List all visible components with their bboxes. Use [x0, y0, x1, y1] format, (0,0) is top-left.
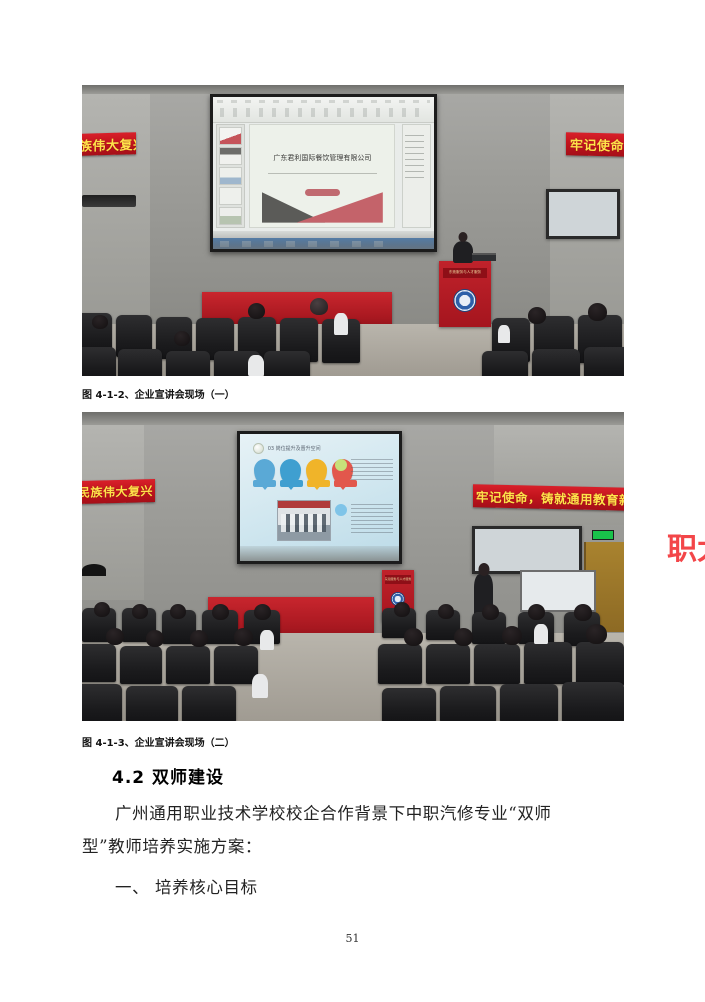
section-heading: 4.2 双师建设: [112, 763, 224, 788]
info-text-block: [351, 459, 392, 479]
photo-lecture-hall-2: 民族伟大复兴 牢记使命，铸就通用教育新的辉 03 岗位提升及晋升空间: [82, 412, 624, 721]
slide-logo-icon: [253, 443, 264, 454]
audience-head: [502, 626, 522, 645]
wall-panel-left: [82, 94, 150, 324]
slide-thumbnail: [219, 127, 242, 145]
list-item-1: 一、 培养核心目标: [82, 874, 624, 898]
audience-seat: [482, 351, 528, 376]
powerpoint-ribbon: [213, 97, 434, 123]
screen-vignette: [240, 546, 399, 561]
slide-thumbnail: [219, 207, 242, 225]
wall-banner-left: 民族伟大复兴: [82, 479, 155, 504]
audience-head: [190, 630, 208, 647]
podium-name-plate-text: 东莞服务与人才服务: [385, 577, 412, 581]
wall-banner-left: 族伟大复兴: [82, 132, 136, 156]
audience-seat: [562, 682, 624, 721]
audience-seat: [532, 349, 580, 376]
audience-head: [438, 604, 454, 619]
slide-canvas: 广东君利国际餐饮管理有限公司: [249, 124, 395, 227]
audience-torso: [534, 624, 548, 644]
paragraph-line-1: 广州通用职业技术学校校企合作背景下中职汽修专业“双师: [82, 800, 624, 824]
wall-banner-right-text: 牢记使命，铸就通用教育新的辉: [476, 486, 624, 509]
audience-head: [94, 602, 110, 617]
audience-seat: [118, 349, 162, 376]
career-arrow: [253, 480, 276, 487]
projection-screen-2: 03 岗位提升及晋升空间: [237, 431, 402, 564]
hall-ceiling: [82, 85, 624, 94]
emergency-exit-sign: [592, 530, 614, 540]
slide-thumbnail: [219, 147, 242, 165]
audience-seat: [584, 347, 624, 376]
projection-screen-1: 广东君利国际餐饮管理有限公司: [210, 94, 437, 252]
audience-seat: [82, 644, 116, 682]
projection-screen-surface-2: 03 岗位提升及晋升空间: [240, 434, 399, 561]
wall-lamp: [82, 564, 106, 576]
audience-seat: [166, 646, 210, 684]
audience-torso: [248, 355, 264, 376]
projection-screen-surface-1: 广东君利国际餐饮管理有限公司: [213, 97, 434, 249]
audience-head: [528, 604, 545, 620]
slide-thumbnail: [219, 167, 242, 185]
air-conditioner-unit: [82, 195, 136, 207]
slide-group-photo: [277, 500, 331, 541]
audience-head: [528, 307, 546, 324]
hall-ceiling: [82, 412, 624, 425]
audience-head: [234, 628, 253, 646]
wall-banner-right: 牢记使命，铸就通用教育新的辉: [473, 484, 624, 511]
audience-head: [170, 604, 186, 619]
career-arrow: [334, 480, 357, 487]
audience-head: [586, 624, 607, 644]
audience-head: [248, 303, 265, 319]
figure-image-1: 族伟大复兴 牢记使命: [82, 85, 624, 376]
audience-seat: [120, 646, 162, 684]
podium-name-plate-text: 东莞服务与人才服务: [449, 270, 481, 275]
wall-banner-right: 牢记使命: [566, 132, 624, 157]
infographic-slide: 03 岗位提升及晋升空间: [240, 434, 399, 561]
audience-head: [394, 602, 410, 617]
slide-heading-text: 03 岗位提升及晋升空间: [268, 445, 321, 452]
audience-head: [146, 630, 164, 647]
audience-torso: [260, 630, 274, 650]
speaker-podium: 东莞服务与人才服务: [439, 261, 491, 327]
career-arrow: [280, 480, 303, 487]
audience-seat: [264, 351, 310, 376]
photo-lecture-hall-1: 族伟大复兴 牢记使命: [82, 85, 624, 376]
slide-shape-pill: [305, 189, 340, 196]
presenter-figure: [453, 241, 473, 263]
career-arrow: [307, 480, 330, 487]
audience-head: [174, 331, 190, 346]
audience-seat: [182, 686, 236, 721]
audience-head: [254, 604, 271, 620]
audience-seat: [82, 347, 116, 376]
secondary-screen-right: [546, 189, 620, 239]
audience-seat: [214, 646, 258, 684]
audience-head: [212, 604, 229, 620]
audience-seat: [440, 686, 496, 721]
slide-title-text: 广东君利国际餐饮管理有限公司: [250, 153, 394, 163]
audience-head: [574, 604, 592, 621]
audience-seat: [382, 688, 436, 721]
audience-torso: [498, 325, 510, 343]
audience-head: [482, 604, 499, 620]
slide-title-rule: [268, 173, 377, 174]
audience-head: [92, 315, 108, 329]
paragraph-line-2: 型”教师培养实施方案：: [82, 833, 624, 857]
info-text-block: [351, 504, 392, 534]
audience-head: [404, 628, 423, 646]
info-bullet-icon: [335, 504, 347, 516]
screen-vignette: [213, 231, 434, 249]
podium-laptop: [472, 253, 496, 261]
presenter-head: [459, 232, 468, 242]
slide-thumbnail-pane: [216, 124, 245, 227]
presenter-head: [478, 563, 489, 576]
career-arrow-row: [253, 480, 357, 487]
wall-banner-left-text: 族伟大复兴: [82, 133, 136, 154]
podium-name-plate: 东莞服务与人才服务: [385, 575, 412, 583]
audience-head: [106, 628, 124, 645]
slide-thumbnail: [219, 187, 242, 205]
audience-seat: [474, 644, 520, 684]
audience-seat: [82, 684, 122, 721]
document-page: 族伟大复兴 牢记使命: [0, 0, 705, 1002]
figure-image-2: 民族伟大复兴 牢记使命，铸就通用教育新的辉 03 岗位提升及晋升空间: [82, 412, 624, 721]
powerpoint-side-pane: [402, 124, 431, 227]
audience-head: [310, 298, 328, 315]
wall-banner-left-text: 民族伟大复兴: [82, 482, 153, 501]
audience-torso: [252, 674, 268, 698]
powerpoint-window: 广东君利国际餐饮管理有限公司: [213, 97, 434, 249]
wall-banner-right-text: 牢记使命: [570, 134, 624, 154]
audience-seat: [166, 351, 210, 376]
audience-seat: [426, 644, 470, 684]
audience-seat: [500, 684, 558, 721]
audience-seat: [524, 642, 572, 684]
audience-torso: [334, 313, 348, 335]
page-number: 51: [0, 932, 705, 945]
slide-heading: 03 岗位提升及晋升空间: [253, 443, 321, 454]
audience-head: [132, 604, 148, 619]
figure-caption-2: 图 4-1-3、企业宣讲会现场（二）: [82, 734, 235, 749]
audience-seat: [378, 644, 422, 684]
audience-head: [454, 628, 473, 646]
school-emblem: [453, 289, 476, 312]
audience-head: [588, 303, 607, 321]
audience-seat: [576, 642, 624, 686]
audience-seat: [126, 686, 178, 721]
podium-name-plate: 东莞服务与人才服务: [443, 268, 487, 279]
figure-caption-1: 图 4-1-2、企业宣讲会现场（一）: [82, 386, 235, 401]
margin-seal-stamp: 职大: [667, 524, 705, 684]
